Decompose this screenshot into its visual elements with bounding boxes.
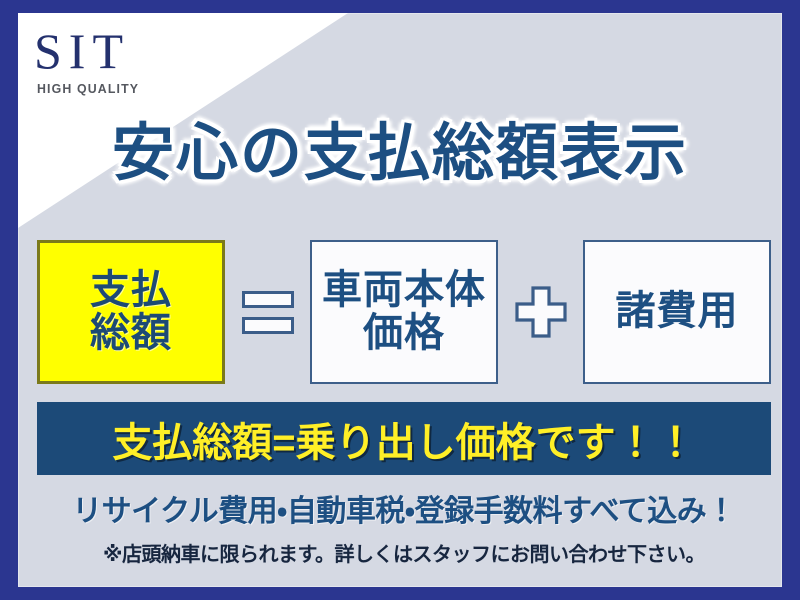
total-payment-line1: 支払 <box>90 269 172 312</box>
banner-panel: SIT HIGH QUALITY 安心の支払総額表示 支払 総額 車両本体 価格 <box>18 13 782 587</box>
price-formula-row: 支払 総額 車両本体 価格 諸費用 <box>37 232 771 392</box>
brand-name: SIT <box>34 26 254 76</box>
plus-icon <box>513 284 569 340</box>
total-payment-line2: 総額 <box>90 312 172 355</box>
vehicle-price-line1: 車両本体 <box>322 269 486 312</box>
equals-icon <box>240 291 296 334</box>
footnote-inclusions: リサイクル費用・自動車税・登録手数料すべて込み！ <box>37 486 771 530</box>
brand-tagline: HIGH QUALITY <box>37 81 243 96</box>
fees-box: 諸費用 <box>583 240 771 384</box>
highlight-strip-text: 支払総額=乗り出し価格です！！ <box>112 410 695 468</box>
page-title: 安心の支払総額表示 <box>18 121 782 186</box>
promo-banner: SIT HIGH QUALITY 安心の支払総額表示 支払 総額 車両本体 価格 <box>0 0 800 600</box>
vehicle-price-box: 車両本体 価格 <box>310 240 498 384</box>
vehicle-price-line2: 価格 <box>363 312 445 355</box>
highlight-strip: 支払総額=乗り出し価格です！！ <box>37 402 771 475</box>
total-payment-box: 支払 総額 <box>37 240 225 384</box>
equals-icon-bar-bottom <box>242 317 294 334</box>
footnotes: リサイクル費用・自動車税・登録手数料すべて込み！ ※店頭納車に限られます。詳しく… <box>37 486 771 567</box>
equals-icon-bar-top <box>242 291 294 308</box>
footnote-disclaimer: ※店頭納車に限られます。詳しくはスタッフにお問い合わせ下さい。 <box>37 538 771 567</box>
brand-logo: SIT HIGH QUALITY <box>34 26 254 96</box>
fees-line1: 諸費用 <box>616 290 739 333</box>
